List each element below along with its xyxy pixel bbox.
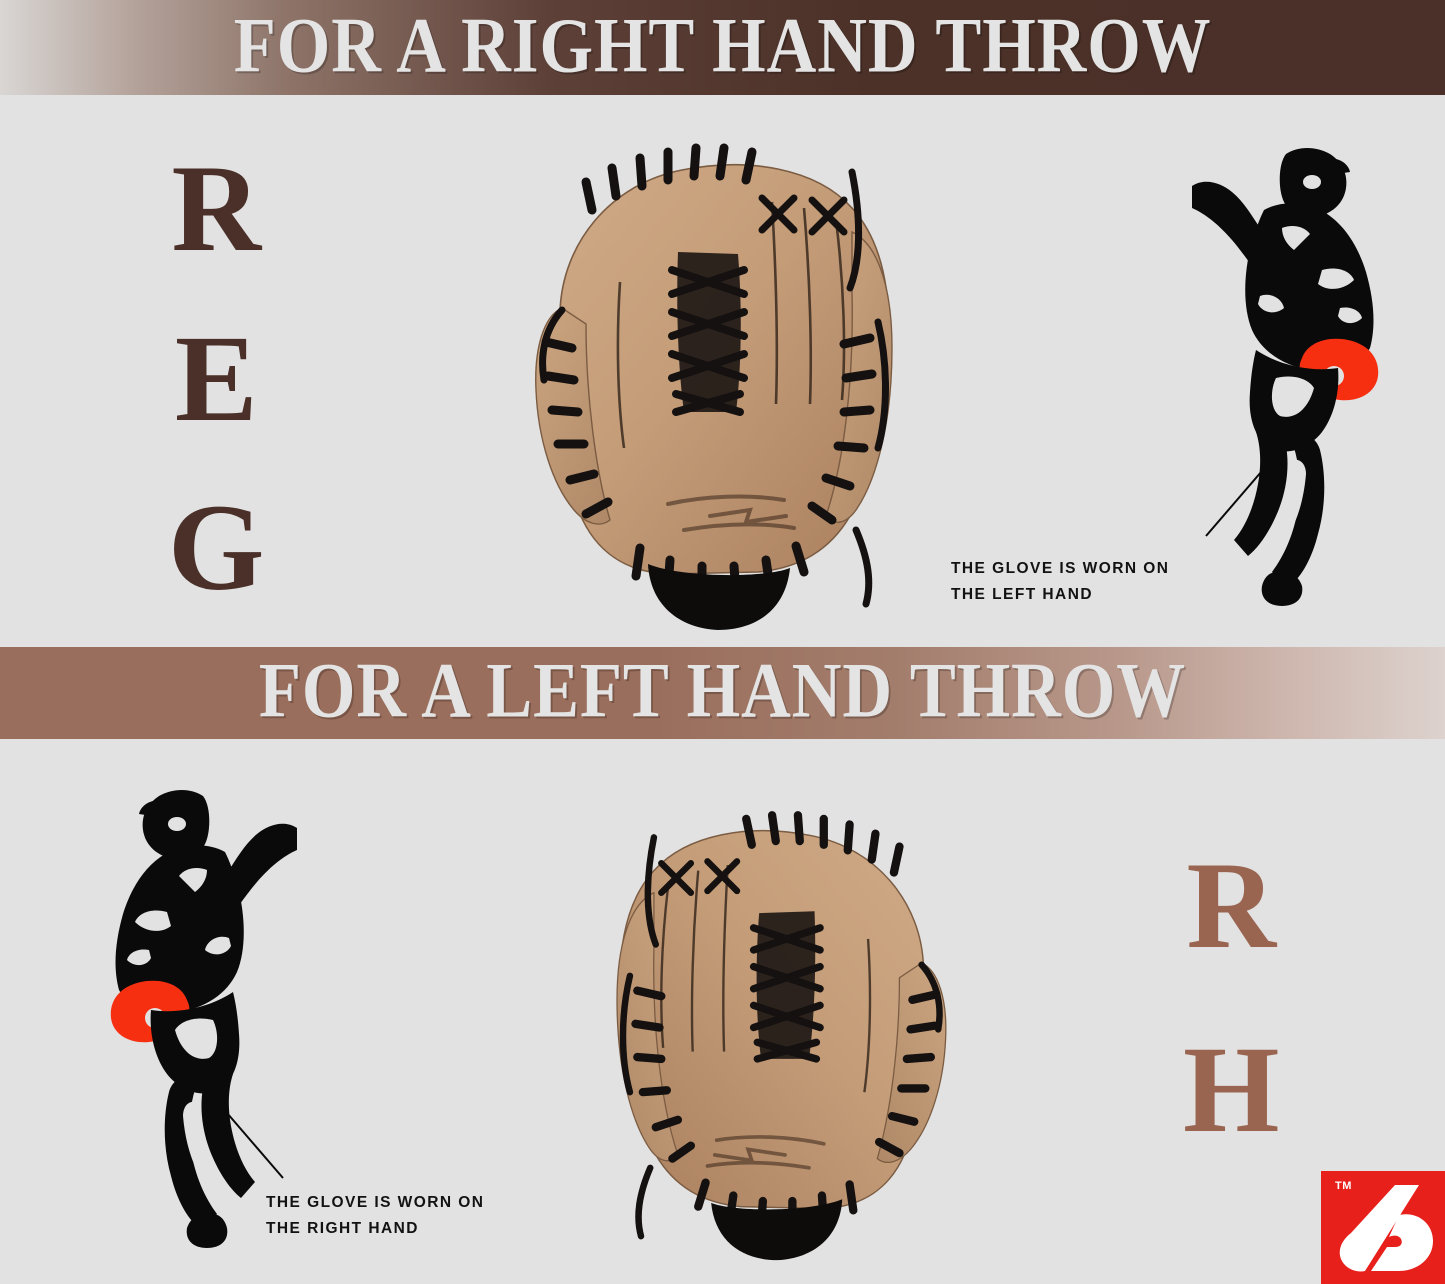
baseball-glove-left-hand-throw [585,782,985,1262]
player-silhouette-left-hand-throw [38,762,328,1262]
letter-r-bottom: R [1186,845,1276,967]
banner-right-hand-throw: FOR A RIGHT HAND THROW [0,0,1445,95]
baseball-glove-right-hand-throw [500,112,920,632]
letter-e-top: E [175,318,258,440]
caption-glove-worn-left-hand: THE GLOVE IS WORN ON THE LEFT HAND [951,556,1169,607]
banner-left-hand-throw-text: FOR A LEFT HAND THROW [259,652,1186,735]
banner-left-hand-throw: FOR A LEFT HAND THROW [0,647,1445,739]
letter-g-top: G [168,487,264,609]
letter-column-reg: R E G [168,148,264,657]
trademark-symbol: TM [1335,1180,1352,1192]
caption-top-line-2: THE LEFT HAND [951,582,1169,608]
letter-h-bottom: H [1183,1029,1279,1151]
banner-right-hand-throw-text: FOR A RIGHT HAND THROW [234,6,1212,89]
barnett-brand-logo: TM [1321,1171,1445,1284]
infographic-page: FOR A RIGHT HAND THROW R E G [0,0,1445,1284]
caption-top-line-1: THE GLOVE IS WORN ON [951,556,1169,582]
caption-glove-worn-right-hand: THE GLOVE IS WORN ON THE RIGHT HAND [266,1190,484,1241]
letter-r-top: R [171,148,261,270]
caption-bottom-line-2: THE RIGHT HAND [266,1216,484,1242]
player-silhouette-right-hand-throw [1190,120,1422,620]
caption-bottom-line-1: THE GLOVE IS WORN ON [266,1190,484,1216]
letter-column-rh: R H [1183,845,1279,1212]
